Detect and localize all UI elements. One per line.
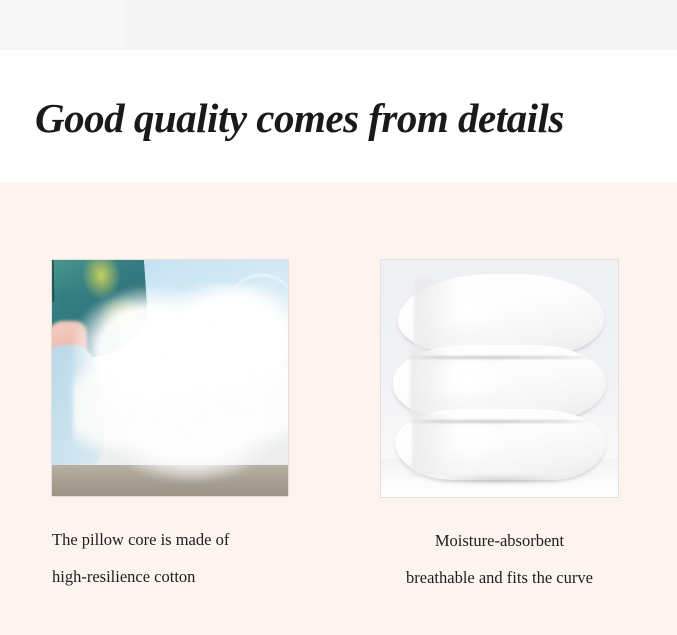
caption-line: Moisture-absorbent <box>380 522 619 559</box>
leaf-stem <box>52 259 55 301</box>
pillow-seam <box>405 420 595 423</box>
heading-block: Good quality comes from details <box>0 50 677 182</box>
caption-line: The pillow core is made of <box>52 521 289 558</box>
product-detail-page: Good quality comes from details The pill… <box>0 0 677 635</box>
pillow-seam <box>405 356 595 359</box>
page-title: Good quality comes from details <box>35 94 564 142</box>
card-caption: Moisture-absorbent breathable and fits t… <box>380 522 619 596</box>
feature-section: The pillow core is made of high-resilien… <box>0 182 677 635</box>
pillow-insert-top <box>398 274 604 355</box>
fluffy-cotton-fill-photo <box>51 259 289 497</box>
card-caption: The pillow core is made of high-resilien… <box>51 521 289 595</box>
cotton-fill-haze <box>66 279 289 482</box>
caption-line: breathable and fits the curve <box>380 559 619 596</box>
caption-line: high-resilience cotton <box>52 558 289 595</box>
pillow-stack-shadow <box>409 475 589 484</box>
active-tab-indicator[interactable] <box>0 0 125 50</box>
stacked-pillow-inserts-photo <box>380 259 619 498</box>
feature-card-pillow-core: The pillow core is made of high-resilien… <box>51 259 289 595</box>
browser-chrome-strip <box>0 0 677 50</box>
feature-card-moisture-absorbent: Moisture-absorbent breathable and fits t… <box>380 259 619 596</box>
